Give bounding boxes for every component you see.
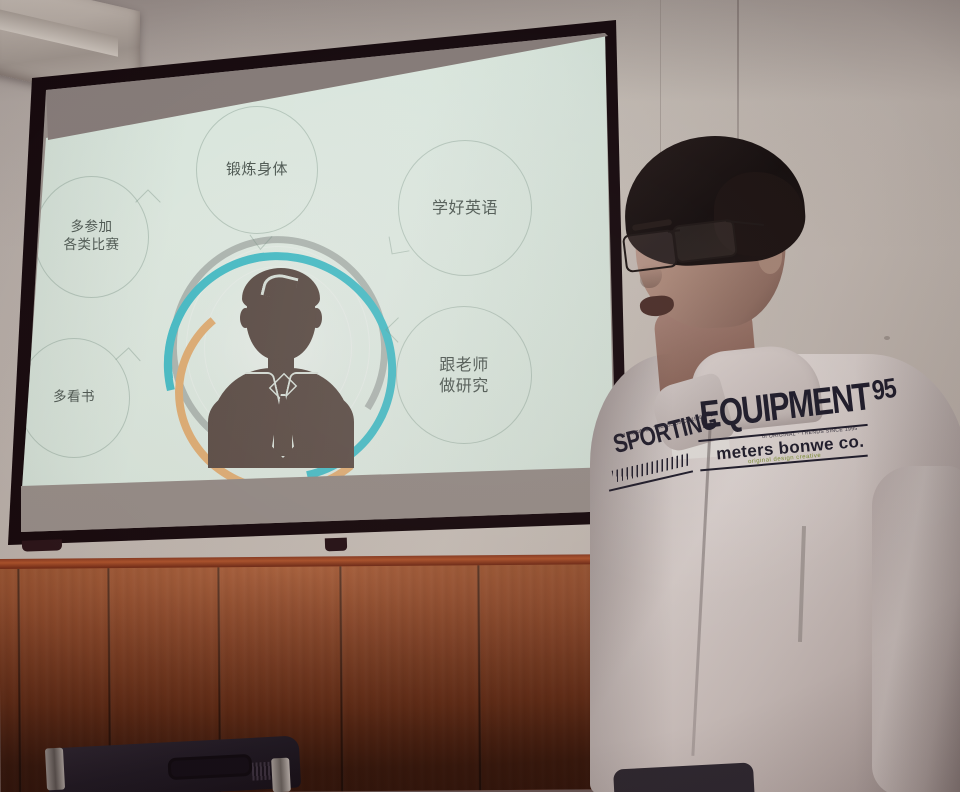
glasses-lens-left bbox=[622, 229, 678, 273]
glasses-lens-right bbox=[672, 218, 738, 263]
bubble-learn-english: 学好英语 bbox=[398, 140, 532, 276]
bubble-read-books-label: 多看书 bbox=[53, 389, 95, 407]
bubble-research-line1: 跟老师 bbox=[439, 354, 489, 375]
screen-bottom-tab bbox=[22, 539, 62, 551]
bubble-learn-english-label: 学好英语 bbox=[432, 197, 498, 218]
jacket-print-number: 95 bbox=[870, 372, 898, 407]
bubble-tail bbox=[389, 234, 410, 255]
speaker: EQUIPMENT 95 SPORTING meters bonwe co. o… bbox=[596, 136, 960, 792]
bubble-research: 跟老师 做研究 bbox=[396, 306, 532, 444]
bag-clip-left bbox=[45, 748, 65, 791]
bubble-exercise: 锻炼身体 bbox=[196, 106, 318, 234]
screen-bottom-tab-right bbox=[325, 538, 347, 552]
bubble-research-line2: 做研究 bbox=[439, 375, 489, 396]
speaker-arm-right bbox=[872, 466, 960, 792]
bubble-read-books: 多看书 bbox=[18, 338, 130, 458]
bubble-competitions-line2: 各类比赛 bbox=[64, 237, 120, 255]
photo-scene: 锻炼身体 多参加 各类比赛 多看书 学好英语 跟老师 bbox=[0, 0, 960, 792]
bubble-tail bbox=[115, 347, 140, 372]
bubble-competitions: 多参加 各类比赛 bbox=[34, 176, 149, 298]
bubble-competitions-line1: 多参加 bbox=[64, 219, 120, 237]
bubble-tail bbox=[135, 189, 160, 214]
bag-clip-right bbox=[271, 758, 291, 792]
bag-handle bbox=[167, 754, 252, 780]
bubble-exercise-label: 锻炼身体 bbox=[226, 160, 288, 180]
slide-avatar bbox=[206, 268, 356, 468]
